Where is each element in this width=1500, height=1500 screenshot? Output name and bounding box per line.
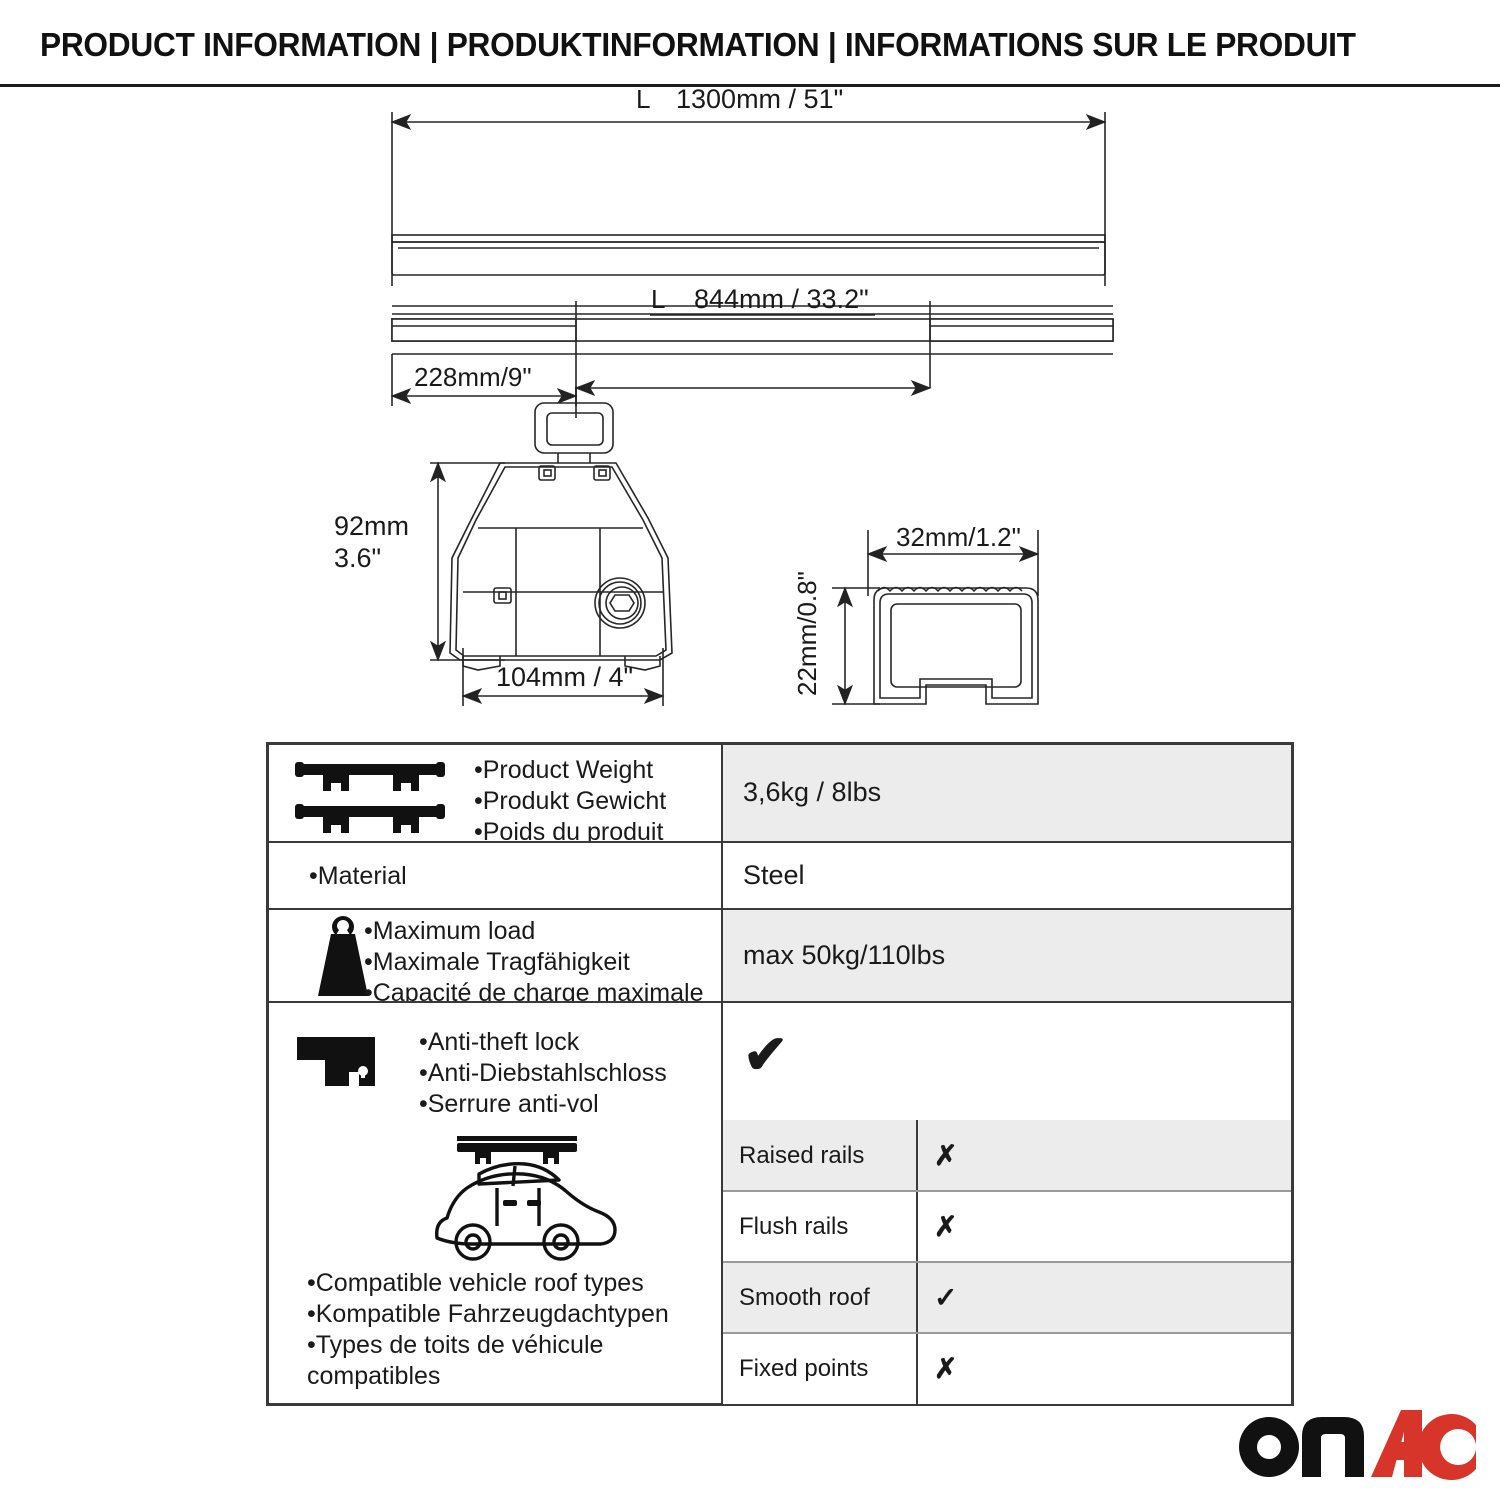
- profile-width-text: 32mm/1.2": [896, 522, 1021, 552]
- check-mark: ✔: [743, 1028, 788, 1082]
- row-divider: [269, 1001, 1291, 1003]
- label-line: compatibles: [307, 1361, 669, 1392]
- check-mark: ✓: [918, 1281, 957, 1314]
- row-value-cell: ✔: [723, 1003, 1291, 1120]
- foot-height-text-1: 92mm: [334, 511, 409, 541]
- roof-type-row: Fixed points✗: [723, 1333, 1291, 1404]
- label-line: •Compatible vehicle roof types: [307, 1268, 669, 1299]
- span-text: 844mm / 33.2": [694, 284, 869, 314]
- logo-letter-m: [1302, 1417, 1364, 1477]
- foot-height-text-2: 3.6": [334, 543, 381, 573]
- label-line: •Produkt Gewicht: [474, 786, 666, 817]
- roof-type-name-text: Flush rails: [723, 1213, 848, 1241]
- cross-mark: ✗: [918, 1352, 957, 1385]
- label-line: •Serrure anti-vol: [419, 1089, 667, 1120]
- end-offset-text: 228mm/9": [414, 362, 532, 392]
- profile-height-text: 22mm/0.8": [792, 571, 822, 696]
- label-line: •Material: [309, 861, 407, 892]
- technical-drawing: L 1300mm / 51" 228mm/9" L 844mm / 33.2" …: [0, 88, 1500, 728]
- roof-bars-icon: [295, 758, 445, 845]
- header-divider: [0, 84, 1500, 87]
- omac-logo: [1236, 1408, 1480, 1480]
- roof-types-label-text: •Compatible vehicle roof types•Kompatibl…: [307, 1268, 669, 1392]
- row-value-cell: Steel: [723, 843, 1291, 910]
- row-label-cell: •Maximum load•Maximale Tragfähigkeit•Cap…: [269, 910, 723, 1003]
- roof-type-name-text: Fixed points: [723, 1355, 868, 1383]
- label-line: •Maximum load: [364, 916, 703, 947]
- table-row: •MaterialSteel: [269, 843, 1291, 910]
- bar-length-text: 1300mm / 51": [676, 88, 843, 114]
- roof-type-mark: ✗: [918, 1333, 1291, 1404]
- roof-type-name: Smooth roof: [723, 1262, 918, 1333]
- label-line: •Types de toits de véhicule: [307, 1330, 669, 1361]
- row-divider: [269, 908, 1291, 910]
- lock-icon: [295, 1031, 383, 1098]
- row-value-text: max 50kg/110lbs: [743, 940, 945, 971]
- roof-type-mark: ✓: [918, 1262, 1291, 1333]
- roof-type-mark: ✗: [918, 1191, 1291, 1262]
- roof-type-name: Fixed points: [723, 1333, 918, 1404]
- roof-type-mark: ✗: [918, 1120, 1291, 1191]
- row-value-cell: 3,6kg / 8lbs: [723, 745, 1291, 843]
- label-line: •Anti-Diebstahlschloss: [419, 1058, 667, 1089]
- row-value-text: Steel: [743, 860, 805, 891]
- row-label-cell: •Product Weight•Produkt Gewicht•Poids du…: [269, 745, 723, 843]
- roof-type-divider: [723, 1261, 1291, 1263]
- table-row: •Maximum load•Maximale Tragfähigkeit•Cap…: [269, 910, 1291, 1003]
- cross-mark: ✗: [918, 1210, 957, 1243]
- roof-type-name: Raised rails: [723, 1120, 918, 1191]
- roof-type-divider: [723, 1332, 1291, 1334]
- roof-type-name-text: Raised rails: [723, 1142, 864, 1170]
- row-label-text: •Anti-theft lock•Anti-Diebstahlschloss•S…: [419, 1027, 667, 1120]
- row-value-text: 3,6kg / 8lbs: [743, 777, 881, 808]
- roof-type-name: Flush rails: [723, 1191, 918, 1262]
- row-value-cell: max 50kg/110lbs: [723, 910, 1291, 1003]
- logo-letter-a: [1371, 1410, 1422, 1477]
- row-label-cell: •Material: [269, 843, 723, 910]
- label-line: •Anti-theft lock: [419, 1027, 667, 1058]
- roof-type-row: Smooth roof✓: [723, 1262, 1291, 1333]
- logo-letter-c: [1418, 1414, 1476, 1480]
- roof-type-divider: [723, 1190, 1291, 1192]
- roof-type-row: Raised rails✗: [723, 1120, 1291, 1191]
- bar-length-symbol: L: [636, 88, 650, 114]
- cross-mark: ✗: [918, 1139, 957, 1172]
- roof-type-row: Flush rails✗: [723, 1191, 1291, 1262]
- foot-width-text: 104mm / 4": [496, 662, 633, 692]
- span-symbol: L: [651, 284, 665, 314]
- roof-type-name-text: Smooth roof: [723, 1284, 870, 1312]
- row-label-text: •Product Weight•Produkt Gewicht•Poids du…: [474, 755, 666, 848]
- label-line: •Product Weight: [474, 755, 666, 786]
- row-label-text: •Maximum load•Maximale Tragfähigkeit•Cap…: [364, 916, 703, 1009]
- roof-types-label-cell: •Compatible vehicle roof types•Kompatibl…: [269, 1120, 723, 1403]
- table-row: •Product Weight•Produkt Gewicht•Poids du…: [269, 745, 1291, 843]
- row-label-text: •Material: [309, 861, 407, 892]
- specification-table: •Product Weight•Produkt Gewicht•Poids du…: [266, 742, 1294, 1406]
- row-label-cell: •Anti-theft lock•Anti-Diebstahlschloss•S…: [269, 1003, 723, 1120]
- label-line: •Kompatible Fahrzeugdachtypen: [307, 1299, 669, 1330]
- label-line: •Maximale Tragfähigkeit: [364, 947, 703, 978]
- row-divider: [269, 841, 1291, 843]
- table-row: •Anti-theft lock•Anti-Diebstahlschloss•S…: [269, 1003, 1291, 1120]
- page-header: PRODUCT INFORMATION | PRODUKTINFORMATION…: [0, 0, 1500, 88]
- page-title: PRODUCT INFORMATION | PRODUKTINFORMATION…: [40, 26, 1356, 64]
